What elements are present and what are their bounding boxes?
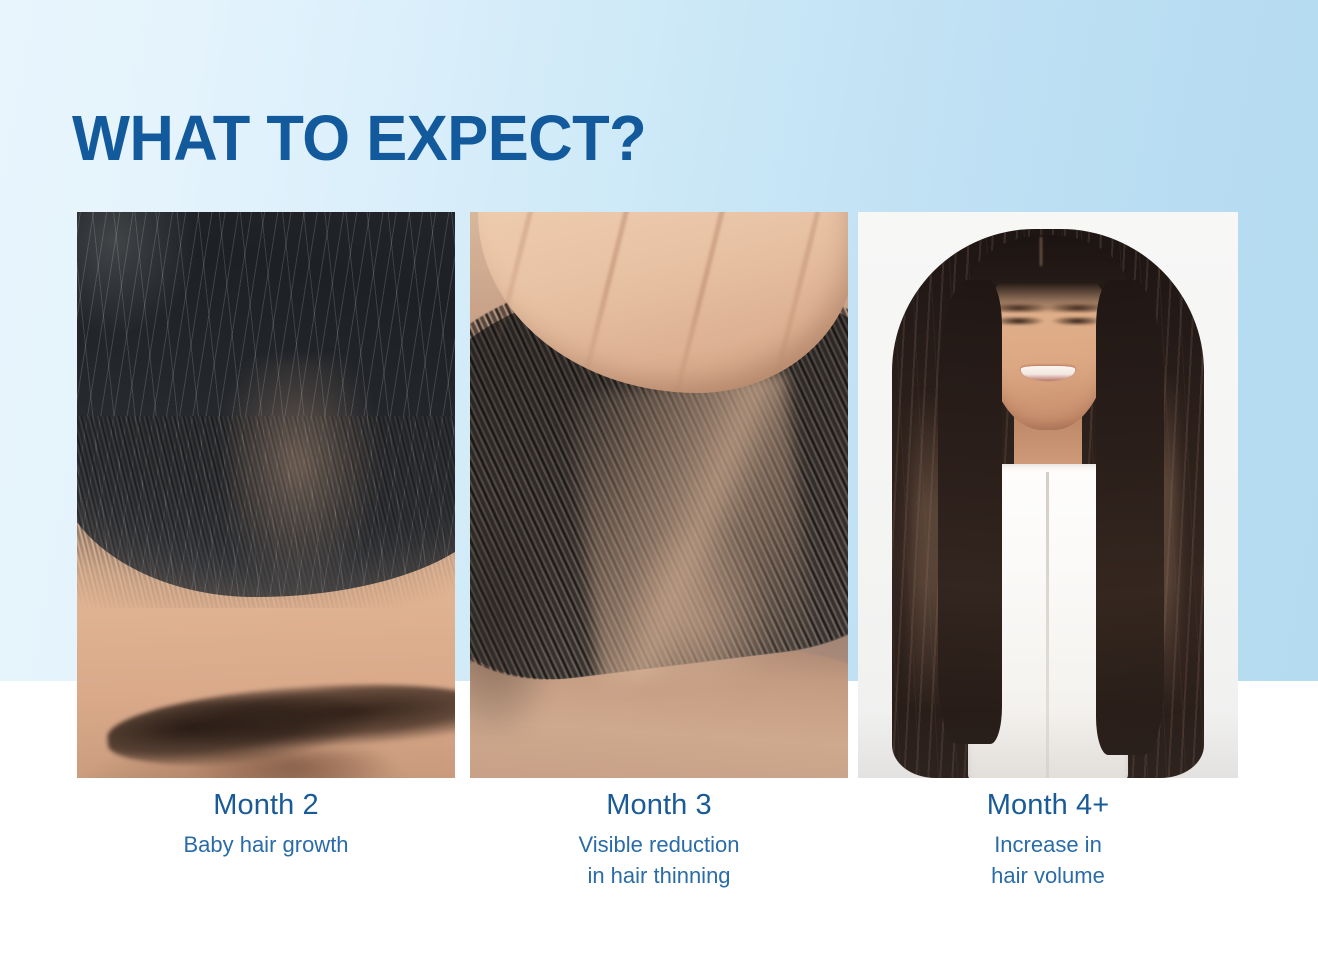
photo-scalp-parting-secondary: [621, 529, 787, 721]
photo-hair-part: [1040, 237, 1042, 265]
caption-month-2: Month 2 Baby hair growth: [77, 786, 455, 860]
photo-month-3: [470, 212, 848, 778]
timeline-card-month-2: Month 2 Baby hair growth: [77, 212, 455, 778]
caption-month-4-plus: Month 4+ Increase in hair volume: [858, 786, 1238, 891]
month-description: Visible reduction in hair thinning: [470, 829, 848, 891]
photo-month-2: [77, 212, 455, 778]
photo-hair-front-left: [938, 280, 1003, 744]
photo-eyes: [999, 317, 1098, 324]
timeline-card-month-4-plus: Month 4+ Increase in hair volume: [858, 212, 1238, 778]
caption-month-3: Month 3 Visible reduction in hair thinni…: [470, 786, 848, 891]
photo-shadow: [470, 506, 583, 732]
timeline-card-month-3: Month 3 Visible reduction in hair thinni…: [470, 212, 848, 778]
photo-hair-front-right: [1096, 280, 1164, 755]
photo-bottom-shadow: [858, 710, 1238, 778]
month-description: Increase in hair volume: [858, 829, 1238, 891]
month-label: Month 4+: [858, 786, 1238, 824]
photo-temple-thinning: [228, 359, 402, 608]
month-description: Baby hair growth: [77, 829, 455, 860]
month-label: Month 2: [77, 786, 455, 824]
photo-month-4-plus: [858, 212, 1238, 778]
month-label: Month 3: [470, 786, 848, 824]
photo-fingers: [485, 212, 848, 393]
photo-highlight: [77, 212, 236, 359]
page-title: WHAT TO EXPECT?: [72, 99, 646, 177]
photo-eyebrows: [995, 304, 1101, 312]
